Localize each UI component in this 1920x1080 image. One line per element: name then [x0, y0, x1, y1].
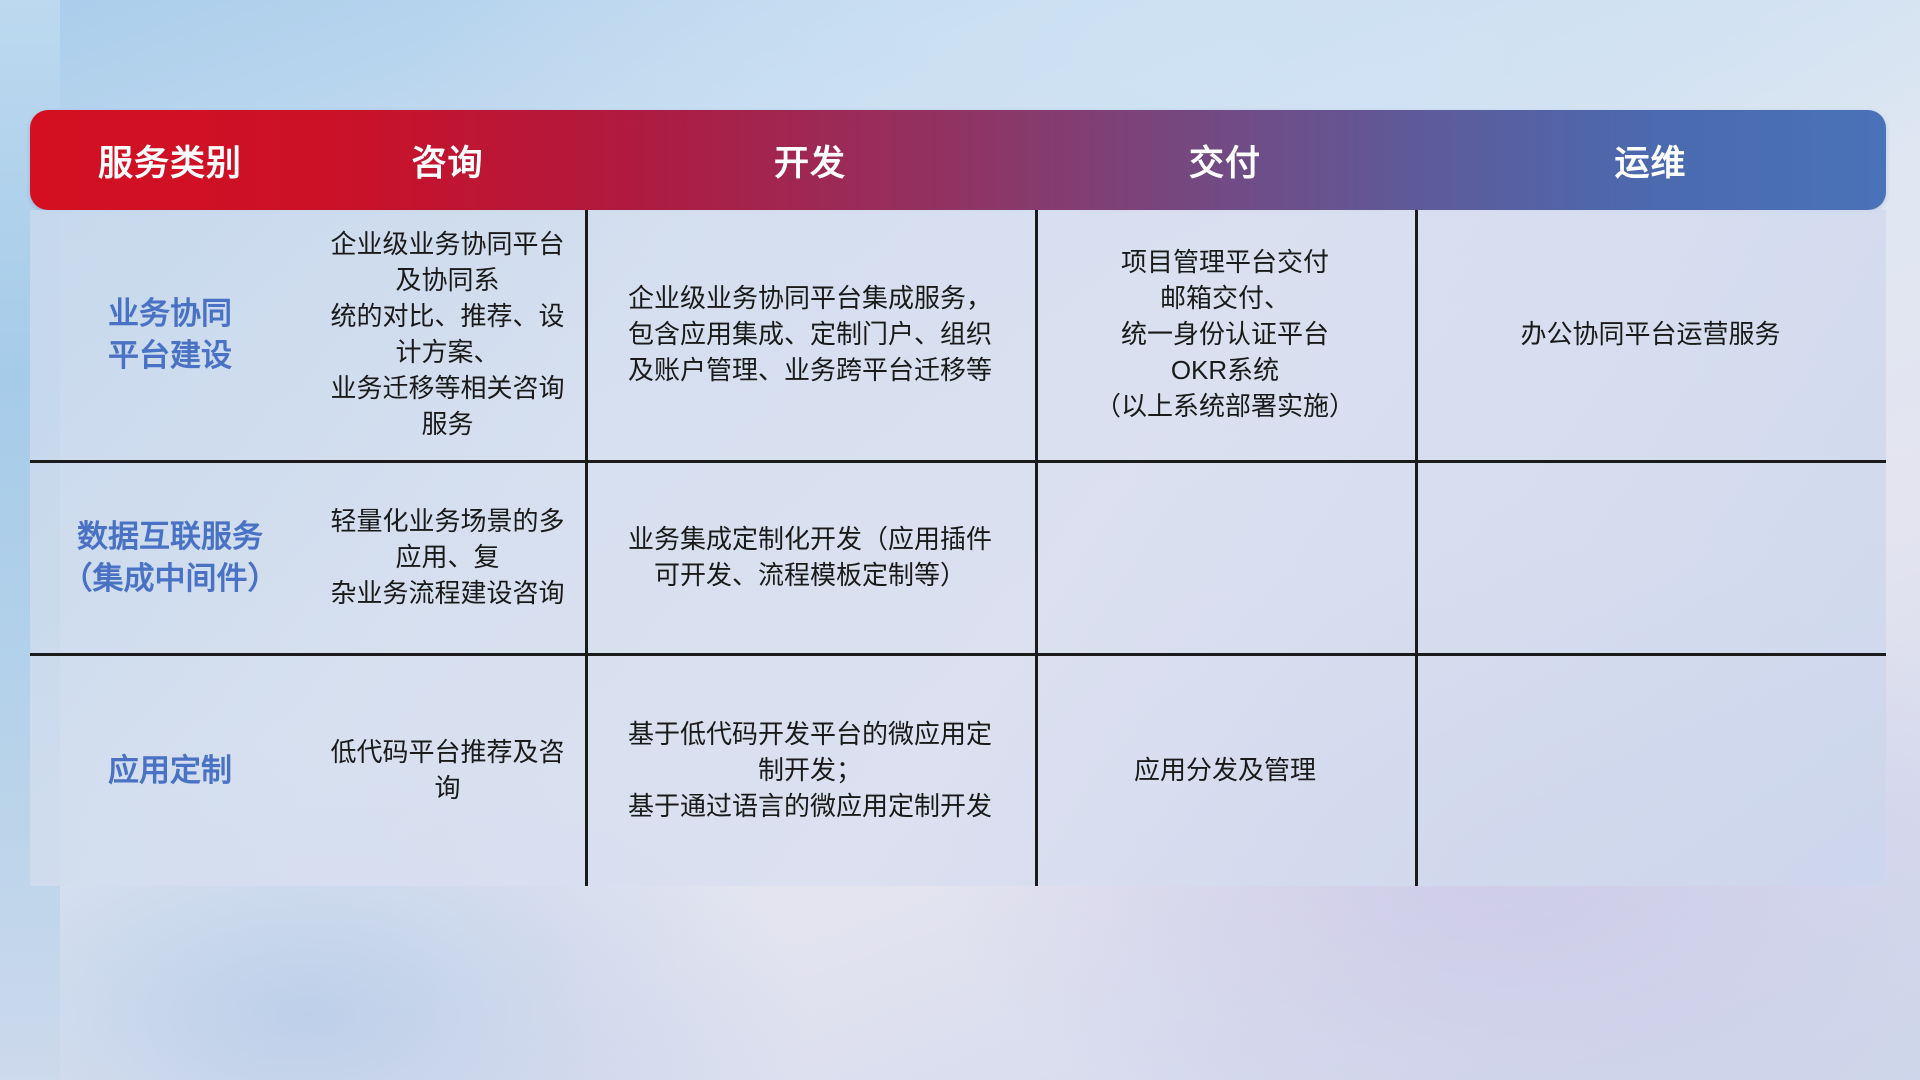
table-body: 业务协同 平台建设 企业级业务协同平台及协同系 统的对比、推荐、设计方案、 业务…	[30, 210, 1886, 886]
cell-operations	[1415, 656, 1886, 886]
column-header-category: 服务类别	[30, 110, 310, 210]
column-header-operations: 运维	[1415, 110, 1886, 210]
cell-operations: 办公协同平台运营服务	[1415, 210, 1886, 460]
column-divider	[1415, 463, 1418, 653]
cell-delivery: 应用分发及管理	[1035, 656, 1415, 886]
cell-operations	[1415, 463, 1886, 653]
column-header-delivery: 交付	[1035, 110, 1415, 210]
cell-consulting: 企业级业务协同平台及协同系 统的对比、推荐、设计方案、 业务迁移等相关咨询服务	[310, 210, 585, 460]
row-category-label: 数据互联服务 （集成中间件）	[30, 463, 310, 653]
cell-delivery	[1035, 463, 1415, 653]
table-row: 应用定制 低代码平台推荐及咨询 基于低代码开发平台的微应用定 制开发； 基于通过…	[30, 653, 1886, 886]
service-matrix-table: 服务类别 咨询 开发 交付 运维 业务协同 平台建设 企业级业务协同平台及协同系…	[30, 110, 1886, 886]
column-divider	[1035, 210, 1038, 460]
cell-development: 基于低代码开发平台的微应用定 制开发； 基于通过语言的微应用定制开发	[585, 656, 1035, 886]
cell-consulting: 轻量化业务场景的多应用、复 杂业务流程建设咨询	[310, 463, 585, 653]
cell-development: 业务集成定制化开发（应用插件 可开发、流程模板定制等）	[585, 463, 1035, 653]
row-category-label: 应用定制	[30, 656, 310, 886]
cell-consulting: 低代码平台推荐及咨询	[310, 656, 585, 886]
table-row: 数据互联服务 （集成中间件） 轻量化业务场景的多应用、复 杂业务流程建设咨询 业…	[30, 460, 1886, 653]
column-header-development: 开发	[585, 110, 1035, 210]
cell-delivery: 项目管理平台交付 邮箱交付、 统一身份认证平台 OKR系统 （以上系统部署实施）	[1035, 210, 1415, 460]
cell-development: 企业级业务协同平台集成服务， 包含应用集成、定制门户、组织 及账户管理、业务跨平…	[585, 210, 1035, 460]
column-divider	[1415, 210, 1418, 460]
table-row: 业务协同 平台建设 企业级业务协同平台及协同系 统的对比、推荐、设计方案、 业务…	[30, 210, 1886, 460]
column-divider	[585, 463, 588, 653]
column-divider	[1415, 656, 1418, 886]
slide-canvas: 服务类别 咨询 开发 交付 运维 业务协同 平台建设 企业级业务协同平台及协同系…	[0, 0, 1920, 1080]
column-divider	[1035, 463, 1038, 653]
row-category-label: 业务协同 平台建设	[30, 210, 310, 460]
column-header-consulting: 咨询	[310, 110, 585, 210]
column-divider	[585, 656, 588, 886]
table-header-row: 服务类别 咨询 开发 交付 运维	[30, 110, 1886, 210]
column-divider	[1035, 656, 1038, 886]
column-divider	[585, 210, 588, 460]
